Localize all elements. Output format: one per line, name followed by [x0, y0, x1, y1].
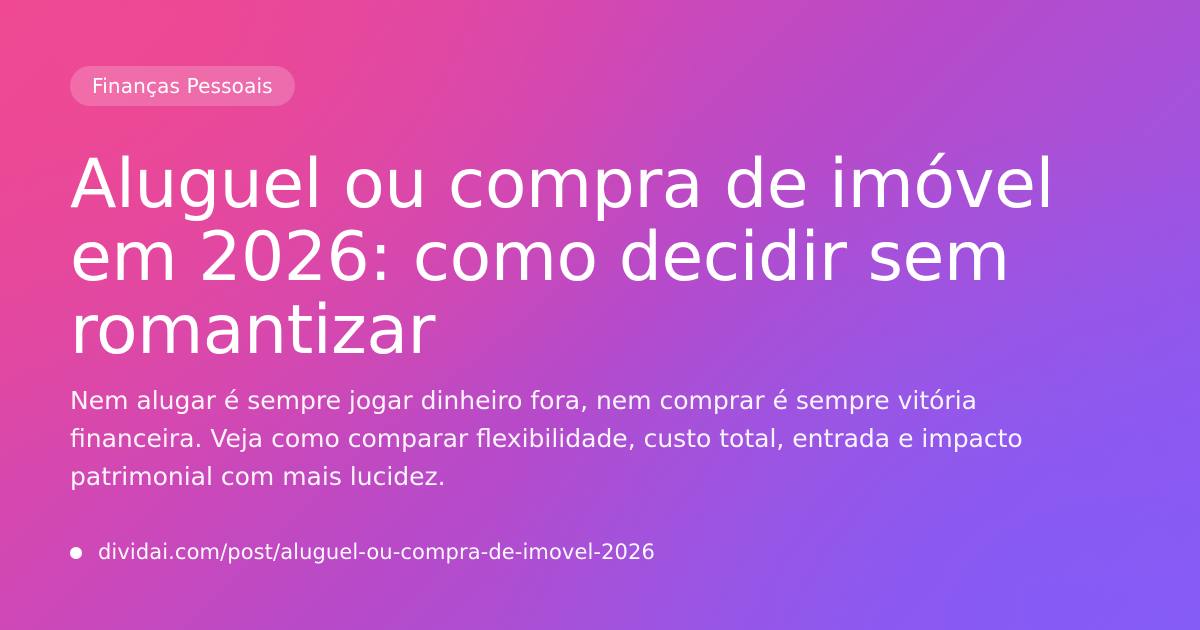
page-subtitle: Nem alugar é sempre jogar dinheiro fora,… [70, 382, 1050, 496]
open-graph-card: Finanças Pessoais Aluguel ou compra de i… [0, 0, 1200, 630]
category-badge: Finanças Pessoais [70, 66, 295, 106]
url-row: dividai.com/post/aluguel-ou-compra-de-im… [70, 542, 655, 563]
dot-icon [70, 547, 82, 559]
page-title: Aluguel ou compra de imóvel em 2026: com… [70, 148, 1080, 367]
url-text: dividai.com/post/aluguel-ou-compra-de-im… [98, 542, 655, 563]
